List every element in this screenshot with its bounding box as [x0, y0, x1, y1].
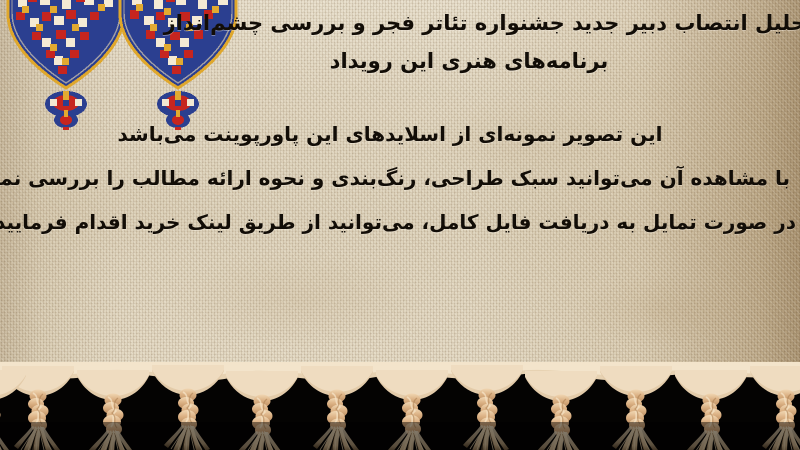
slide-canvas: حلیل انتصاب دبیر جدید جشنواره تئاتر فجر … [0, 0, 800, 450]
title-line-1: حلیل انتصاب دبیر جدید جشنواره تئاتر فجر … [190, 4, 800, 42]
body-line-3: در صورت تمایل به دریافت فایل کامل، می‌تو… [10, 200, 796, 244]
slide-title: حلیل انتصاب دبیر جدید جشنواره تئاتر فجر … [190, 4, 792, 80]
persian-medallion-ornament-left [6, 0, 126, 130]
carpet-fringe-tassels [0, 362, 800, 450]
slide-body: این تصویر نمونه‌ای از اسلایدهای این پاور… [10, 112, 790, 244]
title-line-2: برنامه‌های هنری این رویداد [190, 42, 748, 80]
body-line-1: این تصویر نمونه‌ای از اسلایدهای این پاور… [10, 112, 770, 156]
body-line-2: با مشاهده آن می‌توانید سبک طراحی، رنگ‌بن… [10, 156, 790, 200]
